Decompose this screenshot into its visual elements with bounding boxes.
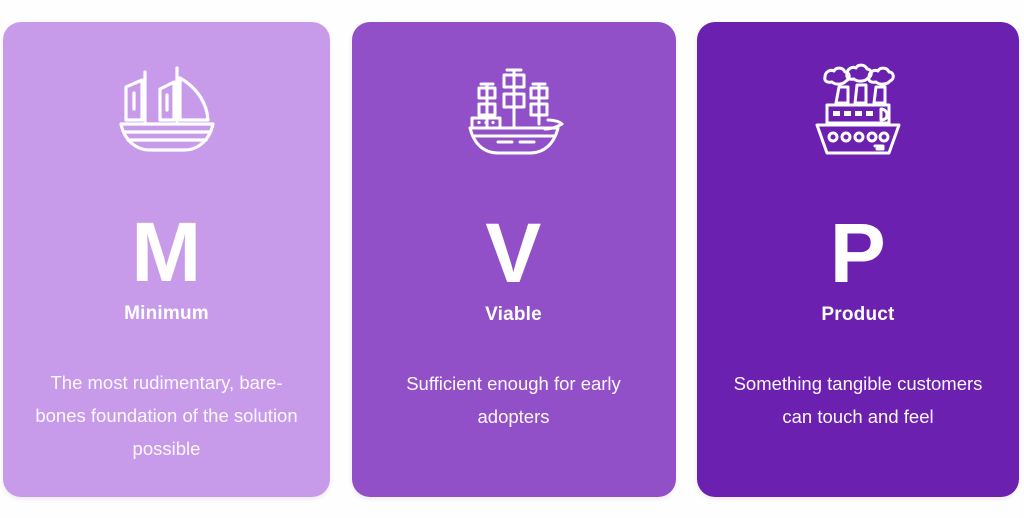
sailboat-icon — [109, 59, 225, 165]
card-word-label: Viable — [485, 304, 542, 326]
card-letter: V — [485, 222, 542, 284]
galleon-ship-icon — [456, 59, 572, 165]
card-letter: M — [131, 221, 201, 283]
mvp-card-viable[interactable]: V Viable Sufficient enough for early ado… — [352, 22, 676, 497]
card-word-label: Minimum — [124, 303, 209, 325]
card-word-label: Product — [821, 304, 894, 326]
mvp-card-minimum[interactable]: M Minimum The most rudimentary, bare-bon… — [3, 22, 330, 497]
mvp-card-product[interactable]: P Product Something tangible customers c… — [697, 22, 1019, 497]
steamship-icon — [800, 59, 916, 165]
card-description: The most rudimentary, bare-bones foundat… — [33, 366, 301, 465]
card-description: Something tangible customers can touch a… — [727, 367, 989, 433]
card-letter: P — [830, 222, 887, 284]
mvp-board: M Minimum The most rudimentary, bare-bon… — [0, 0, 1024, 518]
card-description: Sufficient enough for early adopters — [389, 367, 639, 433]
